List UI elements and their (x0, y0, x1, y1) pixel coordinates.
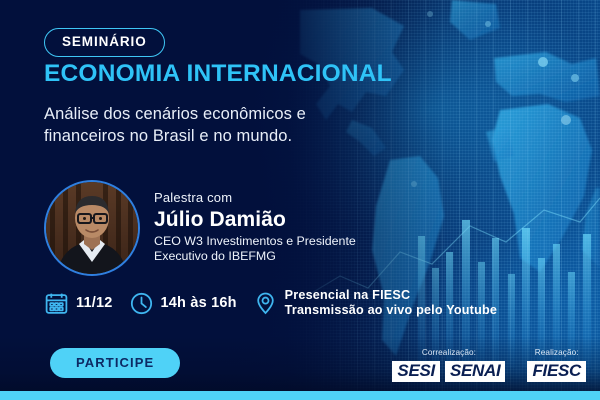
promo-banner: SEMINÁRIO ECONOMIA INTERNACIONAL Análise… (0, 0, 600, 400)
event-date: 11/12 (76, 295, 113, 313)
speaker-details: Palestra com Júlio Damião CEO W3 Investi… (154, 191, 356, 265)
bottom-accent-bar (0, 391, 600, 400)
fiesc-logo: FIESC (527, 361, 586, 382)
info-item-location: Presencial na FIESC Transmissão ao vivo … (253, 288, 497, 319)
seminar-badge: SEMINÁRIO (44, 28, 165, 57)
calendar-icon (44, 291, 69, 316)
speaker-portrait (46, 182, 138, 274)
event-location-line-1: Presencial na FIESC (285, 288, 497, 303)
correalizacao-marks: SESI SENAI (392, 361, 505, 382)
location-pin-icon (253, 291, 278, 316)
event-location-text: Presencial na FIESC Transmissão ao vivo … (285, 288, 497, 319)
event-location-line-2: Transmissão ao vivo pelo Youtube (285, 303, 497, 318)
subtitle-line-1: Análise dos cenários econômicos e (44, 104, 306, 126)
info-item-date: 11/12 (44, 291, 113, 316)
realizacao-caption: Realização: (535, 349, 579, 357)
speaker-intro-label: Palestra com (154, 191, 356, 206)
logo-group-realizacao: Realização: FIESC (527, 349, 586, 382)
speaker-role: CEO W3 Investimentos e Presidente Execut… (154, 234, 356, 265)
page-title: ECONOMIA INTERNACIONAL (44, 62, 392, 87)
subtitle-line-2: financeiros no Brasil e no mundo. (44, 126, 306, 148)
speaker-role-line-1: CEO W3 Investimentos e Presidente (154, 234, 356, 250)
correalizacao-caption: Correalização: (422, 349, 476, 357)
avatar (44, 180, 140, 276)
senai-logo: SENAI (445, 361, 505, 382)
speaker-role-line-2: Executivo do IBEFMG (154, 249, 356, 265)
info-item-time: 14h às 16h (129, 291, 237, 316)
speaker-name: Júlio Damião (154, 207, 356, 233)
participate-button[interactable]: PARTICIPE (50, 348, 180, 378)
logo-group-correalizacao: Correalização: SESI SENAI (392, 349, 505, 382)
realizacao-marks: FIESC (527, 361, 586, 382)
subtitle: Análise dos cenários econômicos e financ… (44, 104, 306, 148)
event-time: 14h às 16h (161, 295, 237, 313)
event-info-row: 11/12 14h às 16h (44, 288, 497, 319)
clock-icon (129, 291, 154, 316)
sponsor-logos: Correalização: SESI SENAI Realização: FI… (392, 349, 586, 382)
speaker-block: Palestra com Júlio Damião CEO W3 Investi… (44, 180, 356, 276)
sesi-logo: SESI (392, 361, 440, 382)
